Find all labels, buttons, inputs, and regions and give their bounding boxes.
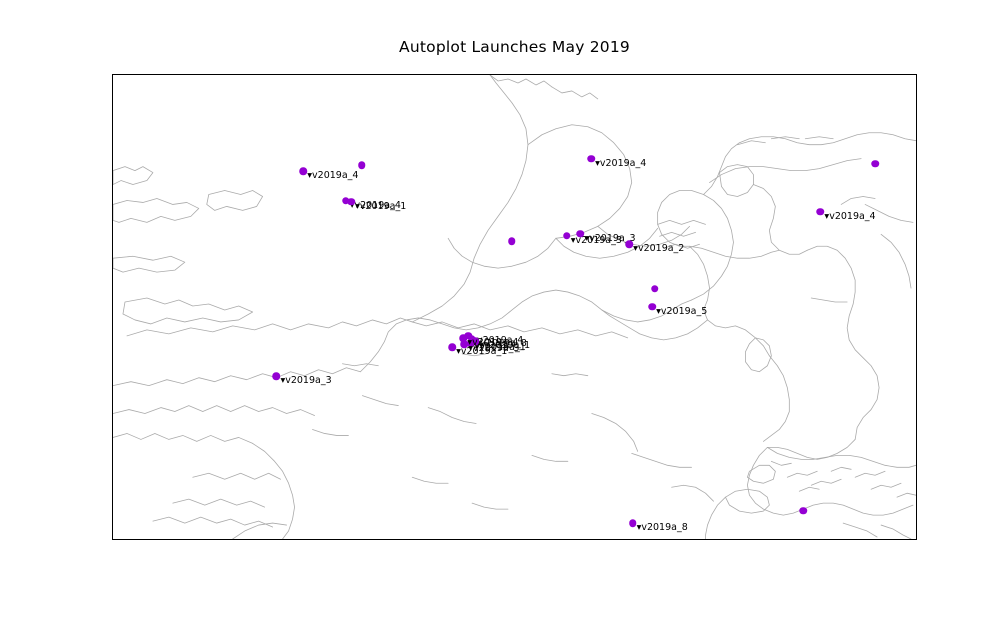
y-axis-minor-tick	[112, 430, 113, 431]
y-axis-minor-tick	[112, 531, 113, 532]
data-point[interactable]	[651, 285, 659, 293]
y-axis-tick	[112, 379, 113, 380]
x-axis-minor-tick	[796, 539, 797, 540]
data-point[interactable]	[347, 198, 355, 206]
x-axis-tick	[455, 539, 456, 540]
data-point[interactable]	[358, 161, 366, 169]
figure-canvas: Autoplot Launches May 2019	[0, 0, 1003, 633]
y-axis-minor-tick	[112, 227, 113, 228]
data-point-label: ▾v2019a_3	[280, 376, 331, 386]
x-axis-minor-tick	[503, 539, 504, 540]
x-axis-minor-tick	[601, 539, 602, 540]
x-axis-minor-tick	[406, 539, 407, 540]
data-point-label: ▾v2019a_4	[467, 338, 518, 348]
data-point-label: ▾v2019a_4	[595, 158, 646, 168]
y-axis-tick	[112, 75, 113, 76]
data-point-label: ▾v2019a_5	[656, 307, 707, 317]
data-point[interactable]	[460, 335, 468, 343]
x-axis-minor-tick	[113, 539, 114, 540]
data-point[interactable]	[629, 520, 637, 528]
x-axis-tick	[552, 539, 553, 540]
data-point[interactable]	[648, 303, 656, 311]
data-point[interactable]	[508, 237, 516, 245]
data-point-label: ▾v2019a_4	[307, 171, 358, 181]
y-axis-minor-tick	[112, 126, 113, 127]
x-axis-minor-tick	[211, 539, 212, 540]
x-axis-minor-tick	[698, 539, 699, 540]
data-point[interactable]	[273, 373, 281, 381]
data-point[interactable]	[587, 155, 595, 163]
x-axis-tick	[162, 539, 163, 540]
data-point-label: ▾v2019a_1	[355, 201, 406, 211]
y-axis-tick	[112, 278, 113, 279]
x-axis-tick	[650, 539, 651, 540]
x-axis-tick	[259, 539, 260, 540]
x-axis-minor-tick	[894, 539, 895, 540]
data-point[interactable]	[800, 507, 808, 515]
data-point-label: ▾v2019a_4	[824, 212, 875, 222]
data-point[interactable]	[871, 160, 879, 168]
basemap-coastlines	[113, 75, 916, 539]
y-axis-tick	[112, 176, 113, 177]
page-title: Autoplot Launches May 2019	[112, 38, 917, 56]
y-axis-tick	[112, 480, 113, 481]
data-point[interactable]	[577, 230, 585, 238]
x-axis-tick	[845, 539, 846, 540]
map-plot-area[interactable]: 4648505254-4-20246810▾v2019a_4▾v2019a_4▾…	[112, 74, 917, 540]
data-point[interactable]	[625, 240, 633, 248]
data-point[interactable]	[300, 167, 308, 175]
data-point[interactable]	[817, 208, 825, 216]
data-point-label: ▾v2019a_2	[633, 244, 684, 254]
y-axis-minor-tick	[112, 328, 113, 329]
x-axis-minor-tick	[308, 539, 309, 540]
data-point[interactable]	[448, 343, 456, 351]
data-point[interactable]	[563, 232, 571, 240]
x-axis-tick	[357, 539, 358, 540]
data-point-label: ▾v2019a_8	[637, 523, 688, 533]
x-axis-tick	[747, 539, 748, 540]
